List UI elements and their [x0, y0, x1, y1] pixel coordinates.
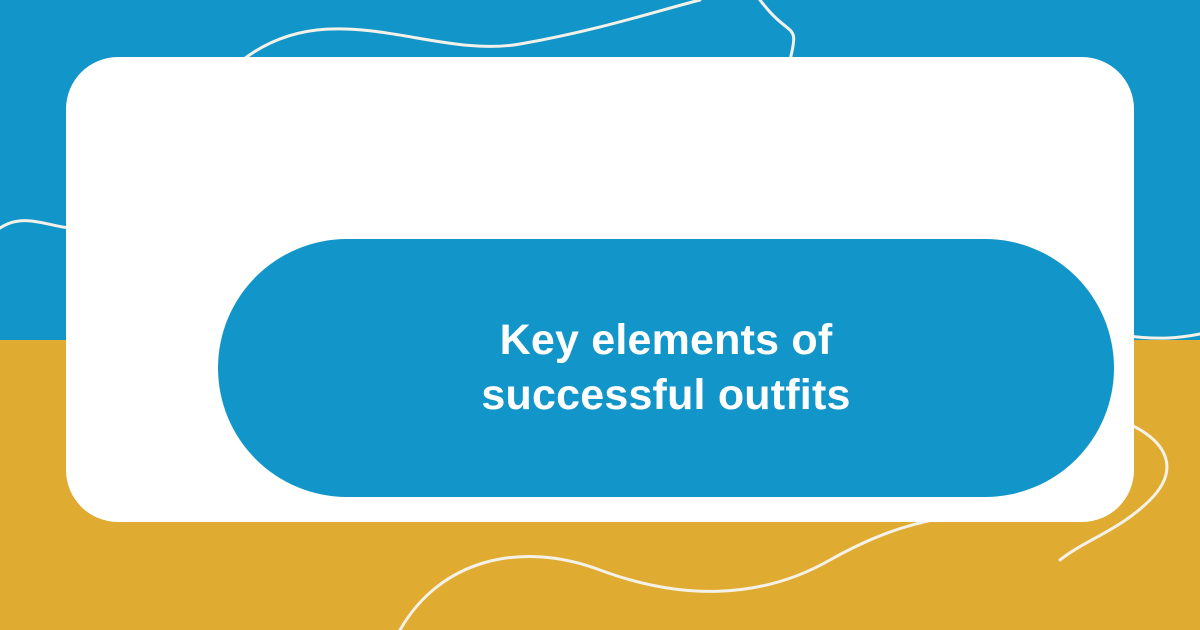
- title-pill: Key elements of successful outfits: [218, 239, 1114, 497]
- content-card: Key elements of successful outfits: [66, 57, 1134, 522]
- promo-banner: Key elements of successful outfits: [0, 0, 1200, 630]
- page-title: Key elements of successful outfits: [451, 313, 881, 423]
